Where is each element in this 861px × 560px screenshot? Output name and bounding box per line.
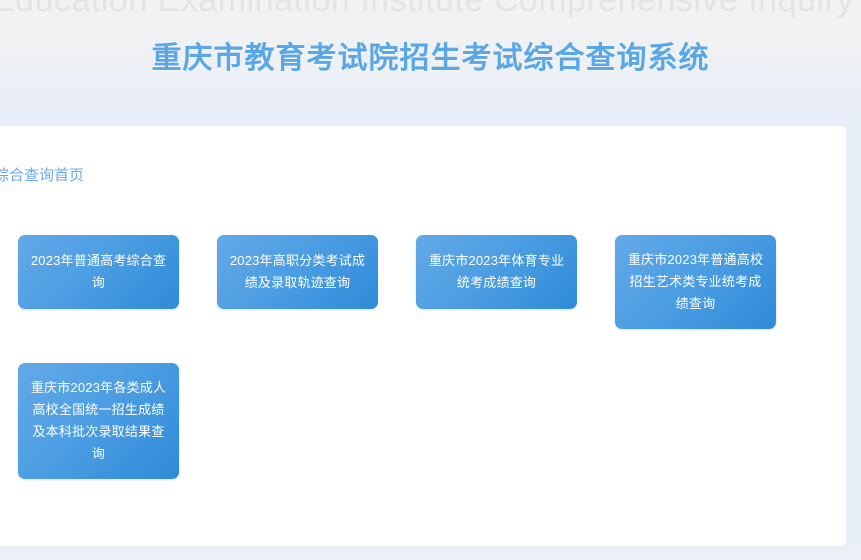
- query-card-gaozhi-fenlei[interactable]: 2023年高职分类考试成绩及录取轨迹查询: [217, 235, 378, 309]
- page-footer-band: [0, 546, 861, 560]
- breadcrumb[interactable]: 综合查询首页: [0, 165, 84, 187]
- query-card-label: 重庆市2023年普通高校招生艺术类专业统考成绩查询: [626, 249, 765, 315]
- query-card-row: 重庆市2023年各类成人高校全国统一招生成绩及本科批次录取结果查询: [18, 363, 838, 479]
- query-card-label: 2023年普通高考综合查询: [29, 250, 168, 294]
- query-card-label: 重庆市2023年各类成人高校全国统一招生成绩及本科批次录取结果查询: [29, 377, 168, 465]
- query-card-label: 重庆市2023年体育专业统考成绩查询: [427, 250, 566, 294]
- query-card-row: 2023年普通高考综合查询 2023年高职分类考试成绩及录取轨迹查询 重庆市20…: [18, 235, 838, 329]
- query-card-yishu-zhuanye[interactable]: 重庆市2023年普通高校招生艺术类专业统考成绩查询: [615, 235, 776, 329]
- site-title: 重庆市教育考试院招生考试综合查询系统: [0, 38, 861, 80]
- query-card-grid: 2023年普通高考综合查询 2023年高职分类考试成绩及录取轨迹查询 重庆市20…: [18, 235, 838, 479]
- header-watermark-text: Education Examination Institute Comprehe…: [0, 0, 861, 22]
- page-header: Education Examination Institute Comprehe…: [0, 0, 861, 126]
- query-card-label: 2023年高职分类考试成绩及录取轨迹查询: [228, 250, 367, 294]
- query-card-chengren-gaoxiao[interactable]: 重庆市2023年各类成人高校全国统一招生成绩及本科批次录取结果查询: [18, 363, 179, 479]
- query-card-putong-gaokao[interactable]: 2023年普通高考综合查询: [18, 235, 179, 309]
- page-root: Education Examination Institute Comprehe…: [0, 0, 861, 560]
- query-card-tiyu-zhuanye[interactable]: 重庆市2023年体育专业统考成绩查询: [416, 235, 577, 309]
- main-content-panel: 综合查询首页 2023年普通高考综合查询 2023年高职分类考试成绩及录取轨迹查…: [0, 126, 846, 546]
